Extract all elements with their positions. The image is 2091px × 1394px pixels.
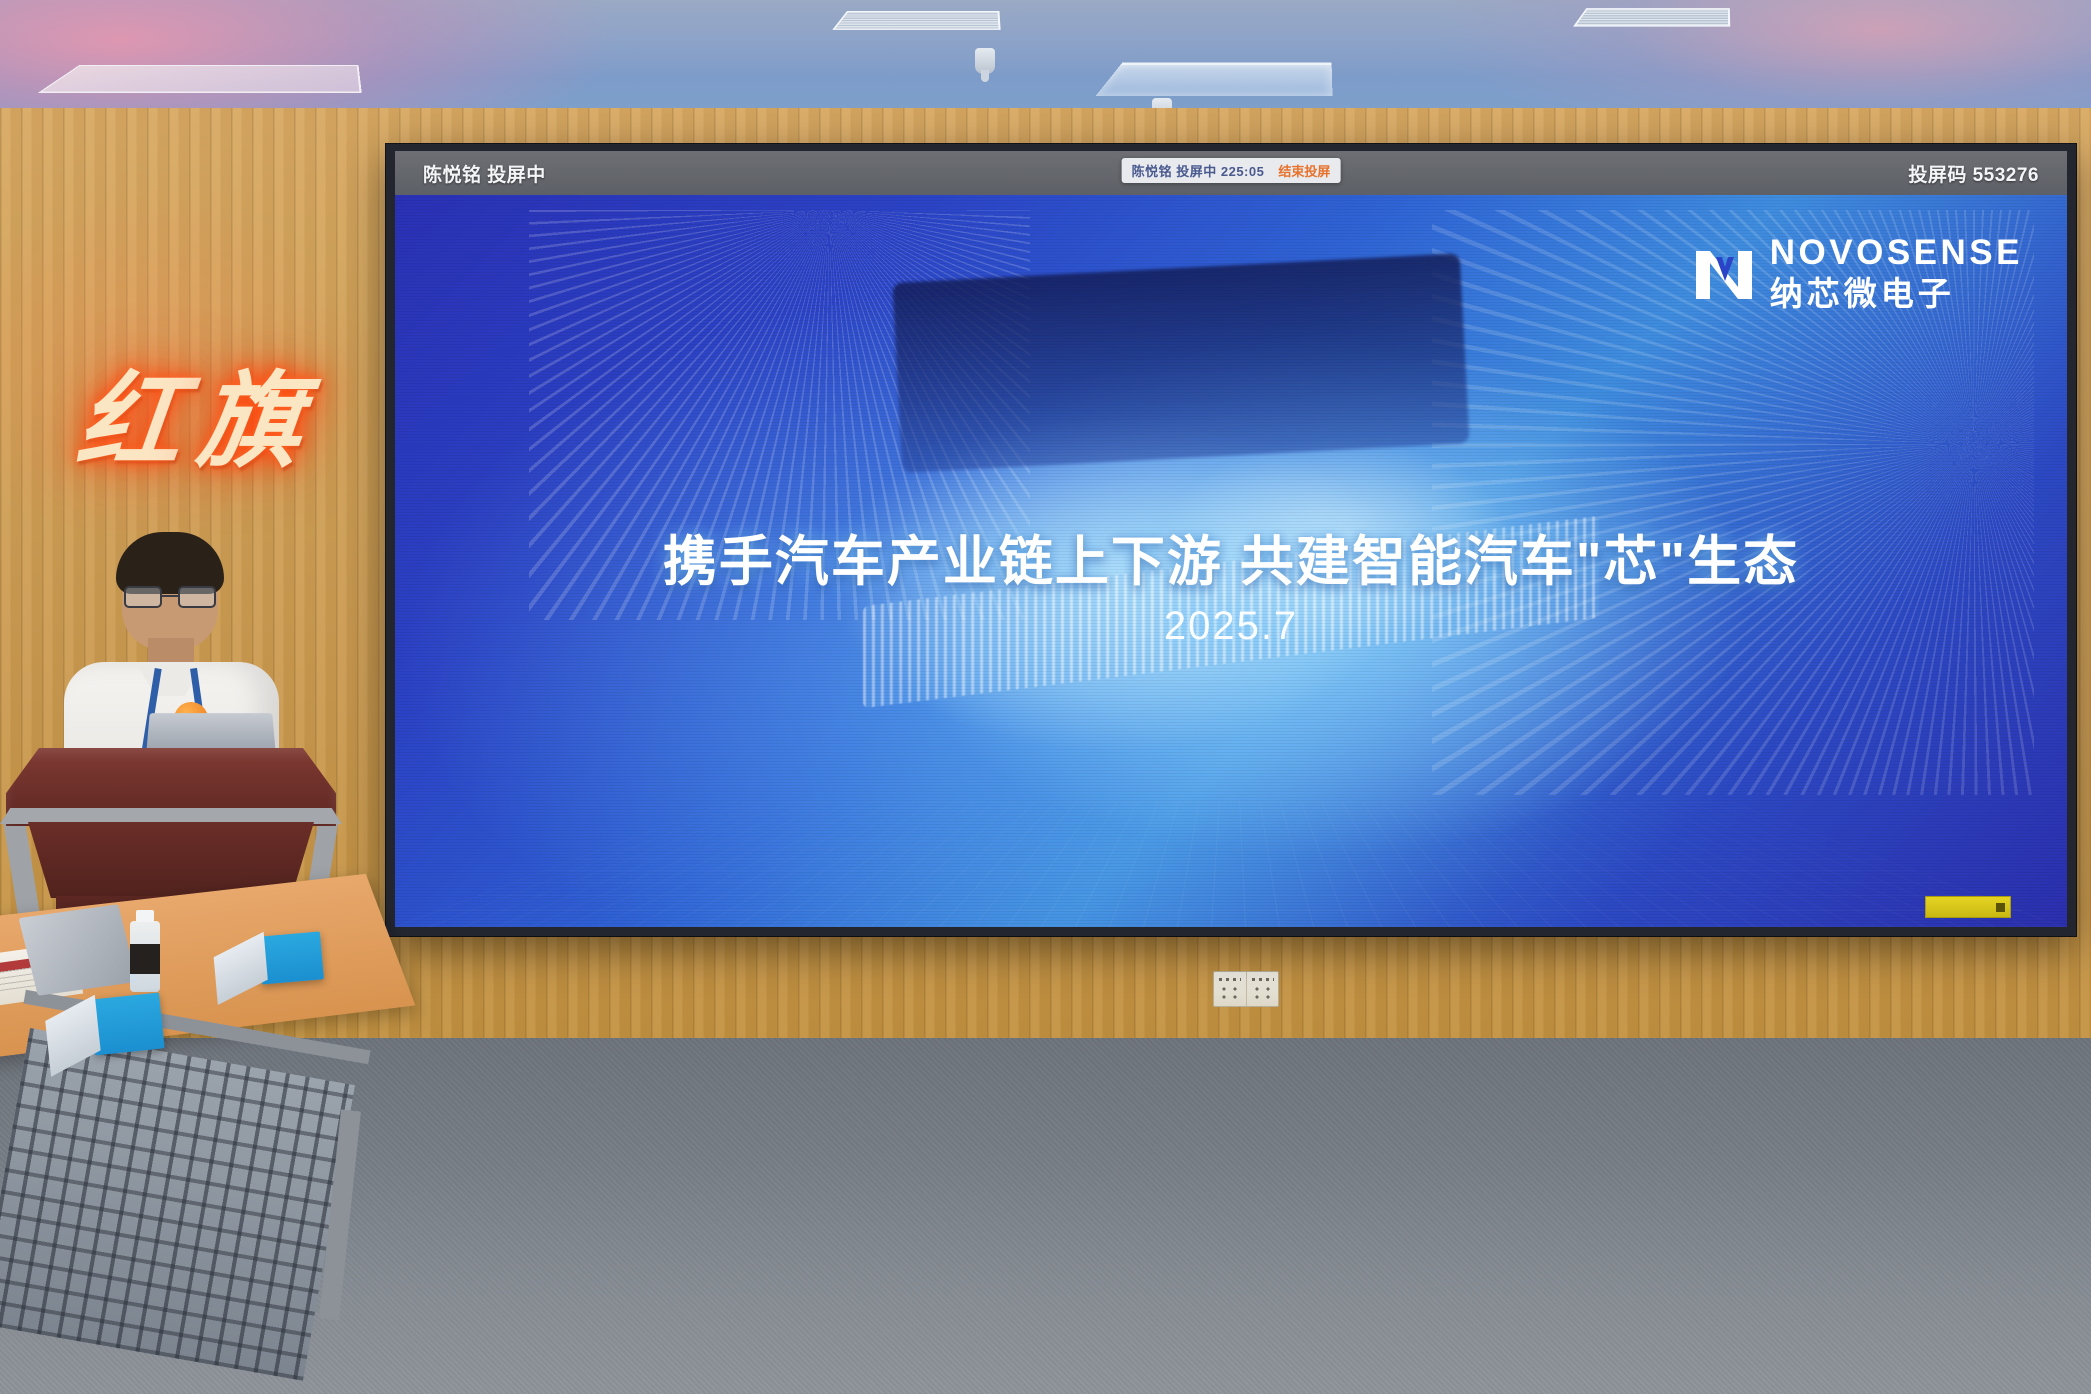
glasses-lens-left [124, 586, 162, 608]
sign-char-2: 旗 [192, 366, 308, 476]
venue-sign-hongqi: 红 旗 [78, 366, 308, 486]
led-screen-surface[interactable]: 陈悦铭 投屏中 投屏码 553276 NOVOSEN [395, 151, 2067, 927]
air-vent-icon [832, 11, 1000, 30]
novosense-logo: NOVOSENSE 纳芯微电子 [1694, 235, 2023, 310]
glasses-bridge [162, 595, 178, 597]
front-table-panel [0, 1028, 355, 1381]
lectern-rim [0, 808, 342, 824]
glasses-lens-right [178, 586, 216, 608]
air-vent-icon [1573, 8, 1730, 27]
screen-corner-sticker [1925, 896, 2011, 918]
conference-room-screenshot: 红 旗 陈悦铭 投屏中 投屏码 553276 [0, 0, 2091, 1394]
novosense-n-logo-icon [1694, 245, 1756, 301]
outlet-right [1247, 972, 1279, 1006]
slide-date: 2025.7 [395, 604, 2067, 649]
name-card [258, 931, 324, 984]
logo-wordmark: NOVOSENSE 纳芯微电子 [1770, 235, 2023, 310]
bottle-cap [136, 910, 154, 922]
presentation-slide: NOVOSENSE 纳芯微电子 携手汽车产业链上下游 共建智能汽车"芯"生态 2… [395, 195, 2067, 927]
casting-code: 投屏码 553276 [1908, 160, 2039, 187]
ceiling [0, 0, 2091, 118]
slide-title-block: 携手汽车产业链上下游 共建智能汽车"芯"生态 2025.7 [395, 517, 2067, 649]
water-bottle [130, 910, 160, 992]
table-laptop[interactable] [19, 904, 138, 996]
name-card-face [258, 931, 324, 984]
sign-char-1: 红 [72, 366, 188, 476]
speaker-hair [116, 532, 224, 594]
power-outlet-panel[interactable] [1213, 971, 1279, 1007]
casting-user-status: 陈悦铭 投屏中 [423, 160, 546, 187]
cast-session-status: 陈悦铭 投屏中 225:05 [1132, 161, 1265, 180]
smoke-detector-icon [975, 48, 995, 74]
air-vent-icon [1096, 62, 1333, 96]
outlet-left [1214, 972, 1247, 1006]
name-card [89, 992, 164, 1055]
end-cast-button[interactable]: 结束投屏 [1278, 161, 1330, 180]
logo-name-en: NOVOSENSE [1770, 235, 2023, 270]
glasses-icon [124, 586, 216, 608]
led-video-wall: 陈悦铭 投屏中 投屏码 553276 NOVOSEN [386, 144, 2076, 936]
cast-session-toast[interactable]: 陈悦铭 投屏中 225:05 结束投屏 [1122, 158, 1341, 183]
bottle-label [130, 944, 160, 974]
ceiling-light-panel-icon [38, 65, 362, 93]
slide-title: 携手汽车产业链上下游 共建智能汽车"芯"生态 [395, 517, 2067, 596]
slide-photo-machine-arm [892, 253, 1470, 473]
name-card-face [89, 992, 164, 1055]
logo-name-cn: 纳芯微电子 [1770, 277, 2023, 310]
